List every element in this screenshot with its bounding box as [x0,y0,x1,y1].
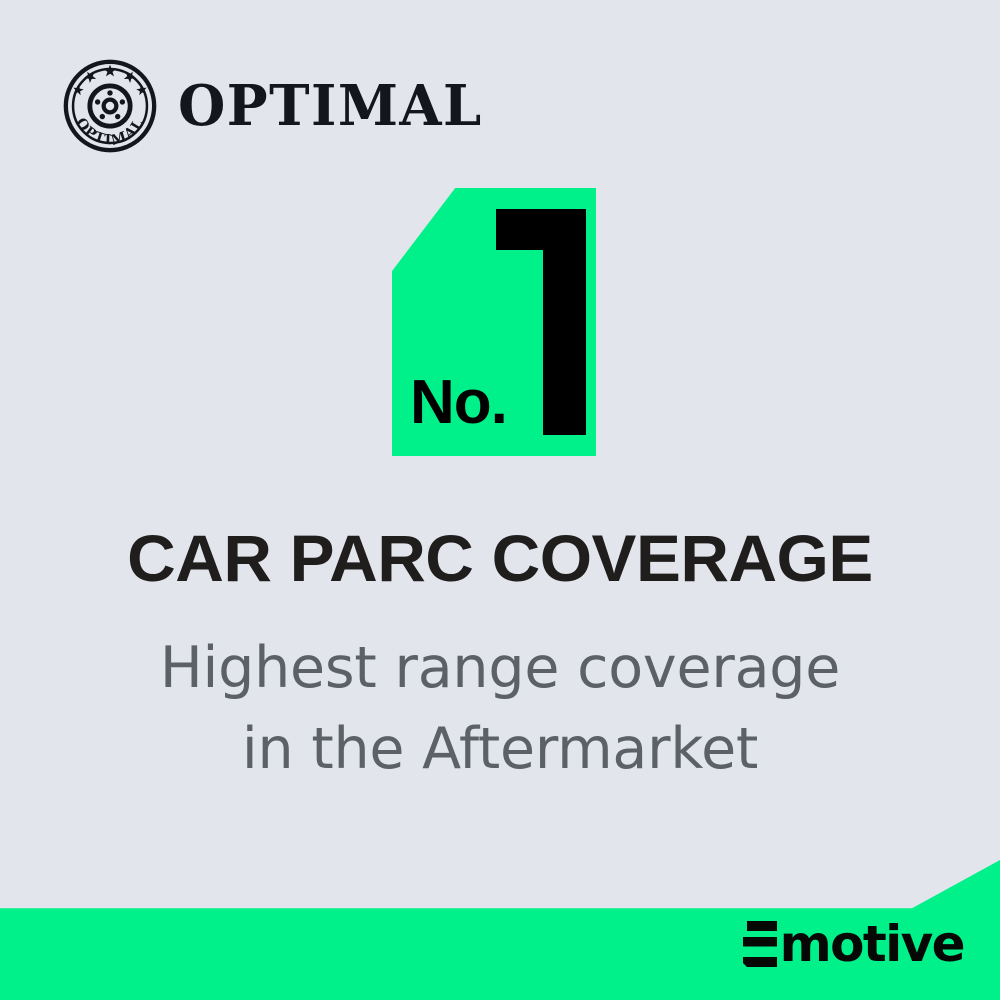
brand-logo: OPTIMAL OPTIMAL [62,58,492,154]
page-subtitle-line-1: Highest range coverage [0,628,1000,709]
page-title: CAR PARC COVERAGE [0,524,1000,594]
page-subtitle: Highest range coverage in the Aftermarke… [0,628,1000,790]
promo-poster: OPTIMAL OPTIMAL No. CAR PARC COVERAGE Hi… [0,0,1000,1000]
rank-badge-number [488,205,586,435]
brand-wordmark: OPTIMAL [178,78,483,134]
page-subtitle-line-2: in the Aftermarket [0,709,1000,790]
emotive-logo: motive [743,921,964,967]
emotive-e-icon [743,921,777,967]
optimal-wheel-seal-icon: OPTIMAL [62,58,158,154]
emotive-wordmark: motive [780,921,964,967]
rank-badge: No. [392,188,596,456]
